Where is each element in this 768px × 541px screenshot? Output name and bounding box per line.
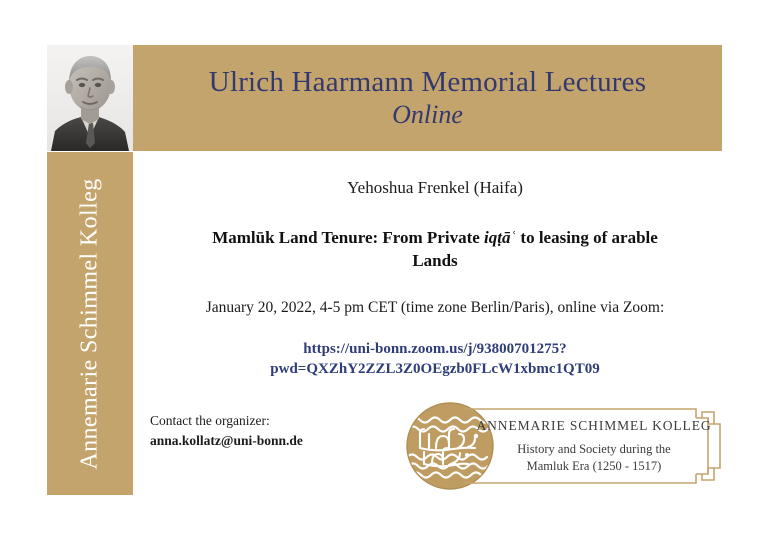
zoom-url-line-1[interactable]: https://uni-bonn.zoom.us/j/93800701275? bbox=[140, 340, 730, 360]
zoom-url-line-2[interactable]: pwd=QXZhY2ZZL3Z0OEgzb0FLcW1xbmc1QT09 bbox=[140, 360, 730, 380]
lecture-title: Mamlūk Land Tenure: From Private iqṭāʿ t… bbox=[200, 227, 670, 273]
lecture-title-italic-term: iqṭāʿ bbox=[484, 228, 516, 247]
page-subtitle: Online bbox=[392, 100, 463, 130]
contact-block: Contact the organizer: anna.kollatz@uni-… bbox=[150, 411, 303, 450]
sidebar-brand-band: Annemarie Schimmel Kolleg bbox=[47, 152, 133, 495]
logo-text-block: ANNEMARIE SCHIMMEL KOLLEG History and So… bbox=[474, 406, 714, 486]
zoom-meeting-link[interactable]: https://uni-bonn.zoom.us/j/93800701275? … bbox=[140, 340, 730, 380]
contact-label: Contact the organizer: bbox=[150, 411, 303, 431]
lecture-title-part1: Mamlūk Land Tenure: From Private bbox=[212, 228, 484, 247]
page-title: Ulrich Haarmann Memorial Lectures bbox=[209, 66, 646, 98]
logo-tagline-line-2: Mamluk Era (1250 - 1517) bbox=[517, 458, 670, 474]
logo-tagline: History and Society during the Mamluk Er… bbox=[517, 441, 670, 474]
contact-email[interactable]: anna.kollatz@uni-bonn.de bbox=[150, 431, 303, 451]
lecture-poster: Ulrich Haarmann Memorial Lectures Online… bbox=[0, 0, 768, 541]
logo-institution-name: ANNEMARIE SCHIMMEL KOLLEG bbox=[477, 418, 712, 434]
logo-tagline-line-1: History and Society during the bbox=[517, 441, 670, 457]
speaker-portrait-photo bbox=[47, 45, 133, 151]
kolleg-logo: ANNEMARIE SCHIMMEL KOLLEG History and So… bbox=[404, 398, 722, 494]
speaker-name: Yehoshua Frenkel (Haifa) bbox=[140, 178, 730, 198]
sidebar-brand-label: Annemarie Schimmel Kolleg bbox=[77, 178, 104, 469]
header-band: Ulrich Haarmann Memorial Lectures Online bbox=[133, 45, 722, 151]
lecture-datetime: January 20, 2022, 4-5 pm CET (time zone … bbox=[140, 299, 730, 317]
